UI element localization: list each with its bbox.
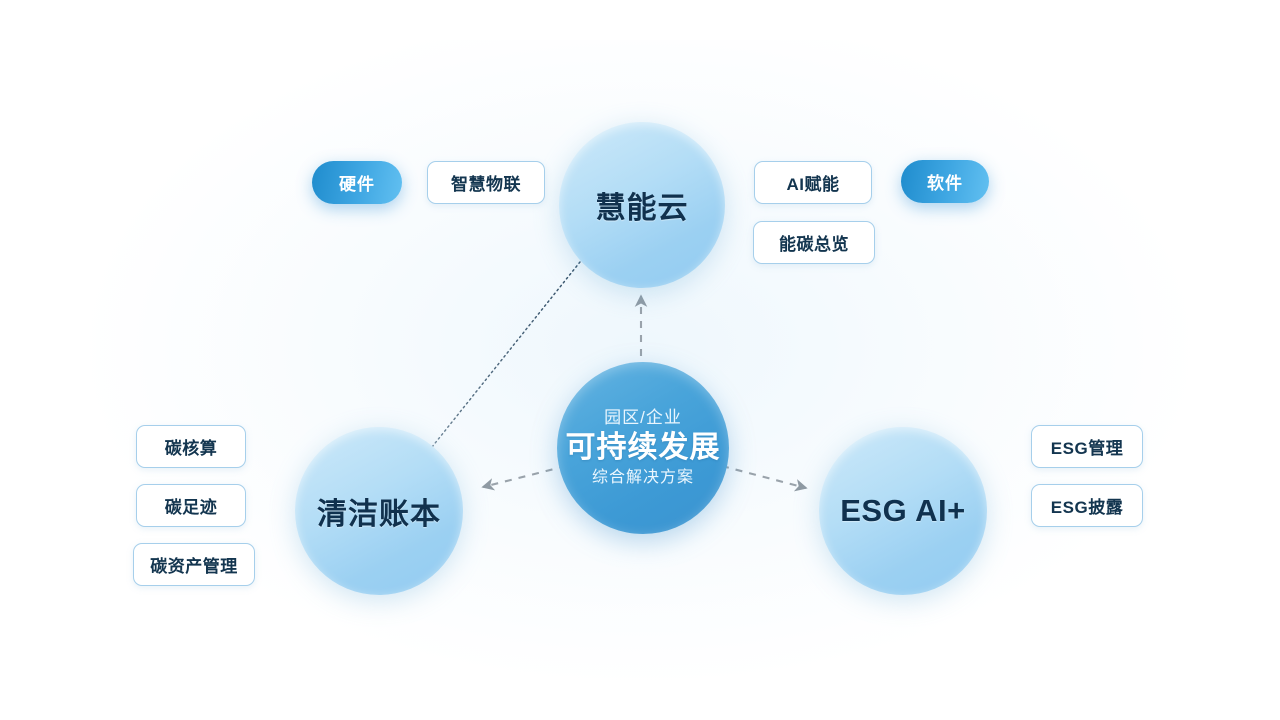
tag-esg-management[interactable]: ESG管理 [1031, 425, 1143, 468]
tag-energy-carbon-overview[interactable]: 能碳总览 [753, 221, 875, 264]
arrow-center-to-right [722, 466, 806, 488]
tag-carbon-asset-management[interactable]: 碳资产管理 [133, 543, 255, 586]
center-sub-label: 综合解决方案 [592, 469, 694, 488]
node-qingjiezhangben-label: 清洁账本 [317, 489, 441, 533]
node-huinengyun-label: 慧能云 [596, 183, 689, 227]
tag-carbon-footprint[interactable]: 碳足迹 [136, 484, 246, 527]
tag-smart-iot[interactable]: 智慧物联 [427, 161, 545, 204]
connector-lines [0, 0, 1280, 720]
diagram-canvas: 慧能云 清洁账本 ESG AI+ 园区/企业 可持续发展 综合解决方案 硬件 智… [0, 0, 1280, 720]
tag-carbon-accounting[interactable]: 碳核算 [136, 425, 246, 468]
center-main-label: 可持续发展 [566, 430, 721, 465]
node-huinengyun[interactable]: 慧能云 [559, 122, 725, 288]
tag-software[interactable]: 软件 [901, 160, 989, 203]
node-qingjiezhangben[interactable]: 清洁账本 [295, 427, 463, 595]
arrow-center-to-left [483, 466, 566, 487]
link-top-left [420, 262, 580, 462]
node-esg-ai-plus-label: ESG AI+ [840, 493, 966, 529]
tag-esg-disclosure[interactable]: ESG披露 [1031, 484, 1143, 527]
node-esg-ai-plus[interactable]: ESG AI+ [819, 427, 987, 595]
node-center-sustainable-development[interactable]: 园区/企业 可持续发展 综合解决方案 [557, 362, 729, 534]
center-top-label: 园区/企业 [604, 408, 682, 428]
tag-hardware[interactable]: 硬件 [312, 161, 402, 204]
link-top-right [420, 262, 580, 462]
tag-ai-empowerment[interactable]: AI赋能 [754, 161, 872, 204]
